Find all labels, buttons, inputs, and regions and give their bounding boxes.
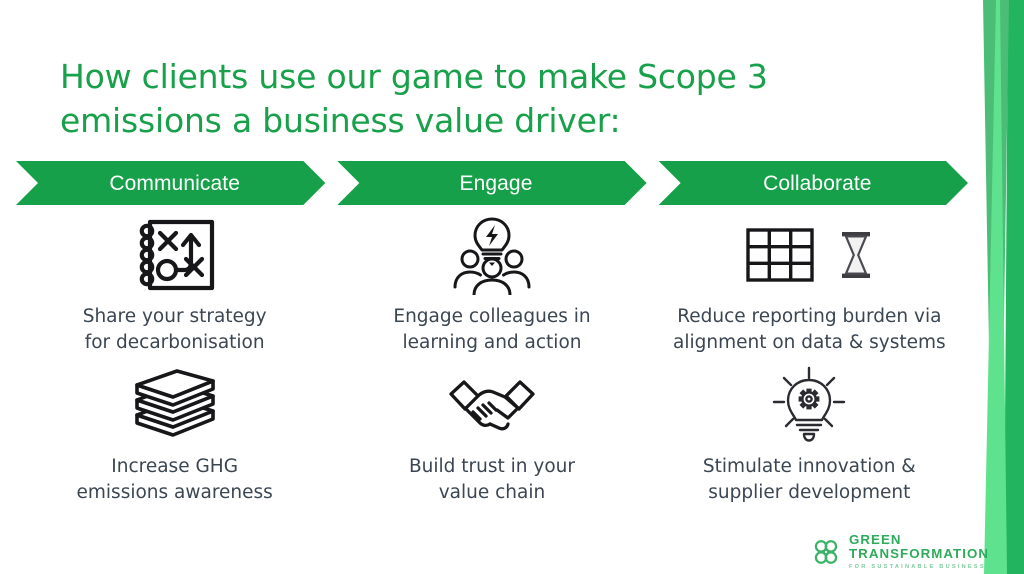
phase-label-communicate: Communicate (109, 173, 240, 194)
benefit-grid: Share your strategy for decarbonisation (16, 212, 968, 512)
logo-tagline: FOR SUSTAINABLE BUSINESS (849, 564, 1024, 570)
right-edge-green-wedges (960, 0, 1024, 574)
lightbulb-gear-innovation-icon (770, 366, 848, 442)
benefit-caption: Stimulate innovation & supplier developm… (703, 454, 916, 505)
benefit-caption-line-2: value chain (409, 480, 575, 506)
icon-group (746, 212, 872, 298)
benefit-cell-engage-2: Build trust in your value chain (333, 364, 650, 512)
stacked-books-icon (127, 369, 223, 439)
phase-label-engage: Engage (459, 173, 532, 194)
benefit-cell-collaborate-2: Stimulate innovation & supplier developm… (651, 364, 968, 512)
benefit-caption: Increase GHG emissions awareness (77, 454, 273, 505)
benefit-caption-line-1: Share your strategy (83, 304, 267, 330)
benefit-caption-line-2: for decarbonisation (83, 330, 267, 356)
benefit-caption: Engage colleagues in learning and action (393, 304, 590, 355)
icon-group (770, 364, 848, 444)
benefit-caption: Build trust in your value chain (409, 454, 575, 505)
benefit-cell-communicate-1: Share your strategy for decarbonisation (16, 212, 333, 364)
benefit-cell-communicate-2: Increase GHG emissions awareness (16, 364, 333, 512)
icon-group (131, 212, 219, 298)
benefit-caption-line-1: Stimulate innovation & (703, 454, 916, 480)
benefit-caption-line-1: Reduce reporting burden via (673, 304, 946, 330)
data-table-icon (746, 228, 814, 282)
handshake-icon (447, 375, 537, 433)
green-transformation-knot-logo (812, 538, 840, 566)
benefit-caption-line-2: learning and action (393, 330, 590, 356)
phase-chevron-row: Communicate Engage Collaborate (16, 161, 968, 205)
slide-title-line-2: emissions a business value driver: (60, 99, 880, 143)
icon-group (127, 364, 223, 444)
hourglass-icon (840, 230, 872, 280)
slide-canvas: How clients use our game to make Scope 3… (0, 0, 1024, 574)
icon-group (447, 364, 537, 444)
phase-chevron-engage[interactable]: Engage (337, 161, 646, 205)
logo-name: GREEN TRANSFORMATION (849, 533, 1024, 561)
benefit-caption-line-2: emissions awareness (77, 480, 273, 506)
benefit-caption: Share your strategy for decarbonisation (83, 304, 267, 355)
benefit-caption-line-2: alignment on data & systems (673, 330, 946, 356)
benefit-cell-collaborate-1: Reduce reporting burden via alignment on… (651, 212, 968, 364)
brand-logo: GREEN TRANSFORMATION FOR SUSTAINABLE BUS… (812, 533, 1024, 570)
icon-group (450, 212, 534, 298)
benefit-caption-line-1: Engage colleagues in (393, 304, 590, 330)
slide-title-line-1: How clients use our game to make Scope 3 (60, 55, 880, 99)
phase-label-collaborate: Collaborate (763, 173, 872, 194)
phase-chevron-collaborate[interactable]: Collaborate (659, 161, 968, 205)
benefit-caption-line-1: Build trust in your (409, 454, 575, 480)
strategy-notebook-icon (131, 215, 219, 295)
benefit-caption: Reduce reporting burden via alignment on… (673, 304, 946, 355)
benefit-caption-line-1: Increase GHG (77, 454, 273, 480)
benefit-cell-engage-1: Engage colleagues in learning and action (333, 212, 650, 364)
logo-text-block: GREEN TRANSFORMATION FOR SUSTAINABLE BUS… (849, 533, 1024, 570)
team-idea-lightbulb-icon (450, 215, 534, 295)
benefit-caption-line-2: supplier development (703, 480, 916, 506)
slide-title: How clients use our game to make Scope 3… (60, 55, 880, 143)
phase-chevron-communicate[interactable]: Communicate (16, 161, 325, 205)
